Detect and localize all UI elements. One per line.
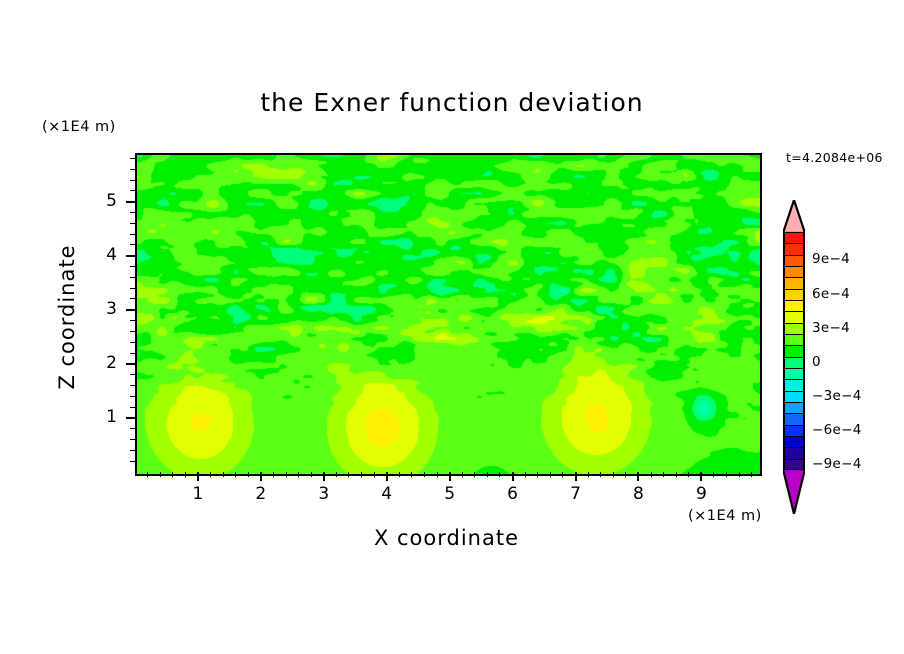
x-axis-tick-label: 6 [498, 484, 528, 504]
x-axis-tick-label: 2 [246, 484, 276, 504]
y-axis-tick-minor [130, 331, 135, 332]
x-axis-tick-major [260, 472, 262, 481]
x-axis-tick-label: 8 [623, 484, 653, 504]
y-axis-tick-minor [130, 439, 135, 440]
x-axis-tick-label: 3 [309, 484, 339, 504]
x-axis-tick-minor [499, 472, 500, 477]
x-axis-tick-minor [600, 472, 601, 477]
x-axis-tick-label: 4 [372, 484, 402, 504]
x-axis-tick-major [700, 472, 702, 481]
y-axis-tick-minor [130, 277, 135, 278]
y-axis-tick-label: 4 [87, 245, 117, 265]
x-axis-tick-major [637, 472, 639, 481]
x-axis-tick-minor [411, 472, 412, 477]
y-axis-tick-label: 5 [87, 191, 117, 211]
y-axis-unit-label: (×1E4 m) [42, 119, 116, 135]
x-axis-tick-minor [625, 472, 626, 477]
x-axis-tick-minor [676, 472, 677, 477]
colorbar[interactable] [783, 232, 805, 470]
x-axis-tick-minor [147, 472, 148, 477]
x-axis-tick-major [575, 472, 577, 481]
x-axis-tick-minor [739, 472, 740, 477]
x-axis-tick-label: 9 [686, 484, 716, 504]
x-axis-tick-minor [336, 472, 337, 477]
x-axis-title: X coordinate [135, 526, 758, 550]
y-axis-tick-minor [130, 353, 135, 354]
colorbar-tick-label: 0 [812, 354, 821, 370]
y-axis-tick-minor [130, 298, 135, 299]
x-axis-tick-minor [311, 472, 312, 477]
contour-field [137, 155, 760, 474]
colorbar-tick-label: −3e−4 [812, 388, 862, 404]
x-axis-tick-major [512, 472, 514, 481]
colorbar-tick-label: 9e−4 [812, 251, 850, 267]
y-axis-tick-minor [130, 407, 135, 408]
y-axis-tick-major [126, 363, 135, 365]
y-axis-tick-minor [130, 158, 135, 159]
y-axis-tick-minor [130, 342, 135, 343]
x-axis-tick-minor [160, 472, 161, 477]
y-axis-tick-minor [130, 374, 135, 375]
colorbar-tick-label: −6e−4 [812, 422, 862, 438]
x-axis-tick-major [323, 472, 325, 481]
y-axis-tick-major [126, 417, 135, 419]
x-axis-tick-minor [235, 472, 236, 477]
x-axis-tick-minor [172, 472, 173, 477]
x-axis-tick-minor [298, 472, 299, 477]
x-axis-tick-minor [185, 472, 186, 477]
colorbar-tick-label: −9e−4 [812, 456, 862, 472]
y-axis-tick-minor [130, 385, 135, 386]
x-axis-tick-minor [286, 472, 287, 477]
y-axis-tick-minor [130, 244, 135, 245]
y-axis-tick-label: 2 [87, 353, 117, 373]
y-axis-tick-minor [130, 428, 135, 429]
y-axis-tick-minor [130, 396, 135, 397]
y-axis-tick-minor [130, 212, 135, 213]
time-stamp-label: t=4.2084e+06 [786, 150, 883, 165]
x-axis-tick-minor [588, 472, 589, 477]
colorbar-top-arrow-icon [783, 200, 805, 233]
y-axis-title: Z coordinate [55, 217, 79, 417]
x-axis-tick-minor [537, 472, 538, 477]
x-axis-tick-minor [688, 472, 689, 477]
x-axis-tick-minor [651, 472, 652, 477]
x-axis-tick-minor [273, 472, 274, 477]
x-axis-tick-label: 1 [183, 484, 213, 504]
y-axis-tick-label: 3 [87, 299, 117, 319]
page-title: the Exner function deviation [0, 88, 904, 117]
x-axis-tick-minor [361, 472, 362, 477]
y-axis-tick-minor [130, 169, 135, 170]
y-axis-tick-minor [130, 320, 135, 321]
y-axis-tick-minor [130, 288, 135, 289]
y-axis-tick-minor [130, 190, 135, 191]
colorbar-bottom-arrow-icon [783, 469, 805, 514]
x-axis-tick-minor [525, 472, 526, 477]
x-axis-tick-major [386, 472, 388, 481]
contour-plot-area[interactable] [135, 153, 762, 476]
y-axis-tick-minor [130, 450, 135, 451]
x-axis-tick-minor [487, 472, 488, 477]
x-axis-tick-minor [550, 472, 551, 477]
x-axis-tick-minor [663, 472, 664, 477]
y-axis-tick-major [126, 309, 135, 311]
y-axis-tick-minor [130, 461, 135, 462]
y-axis-tick-major [126, 201, 135, 203]
y-axis-tick-major [126, 255, 135, 257]
x-axis-tick-minor [462, 472, 463, 477]
y-axis-tick-minor [130, 234, 135, 235]
x-axis-tick-minor [613, 472, 614, 477]
x-axis-tick-minor [726, 472, 727, 477]
x-axis-tick-minor [562, 472, 563, 477]
x-axis-tick-minor [424, 472, 425, 477]
y-axis-tick-minor [130, 223, 135, 224]
x-axis-tick-label: 5 [435, 484, 465, 504]
x-axis-tick-minor [399, 472, 400, 477]
y-axis-tick-label: 1 [87, 407, 117, 427]
y-axis-tick-minor [130, 180, 135, 181]
y-axis-tick-minor [130, 266, 135, 267]
x-axis-tick-minor [348, 472, 349, 477]
x-axis-tick-major [197, 472, 199, 481]
x-axis-tick-minor [374, 472, 375, 477]
x-axis-tick-minor [751, 472, 752, 477]
x-axis-tick-minor [210, 472, 211, 477]
x-axis-tick-label: 7 [561, 484, 591, 504]
x-axis-tick-major [449, 472, 451, 481]
x-axis-tick-minor [437, 472, 438, 477]
colorbar-tick-label: 6e−4 [812, 286, 850, 302]
x-axis-tick-minor [248, 472, 249, 477]
x-axis-tick-minor [474, 472, 475, 477]
x-axis-unit-label: (×1E4 m) [688, 508, 762, 524]
colorbar-tick-label: 3e−4 [812, 320, 850, 336]
x-axis-tick-minor [223, 472, 224, 477]
x-axis-tick-minor [713, 472, 714, 477]
